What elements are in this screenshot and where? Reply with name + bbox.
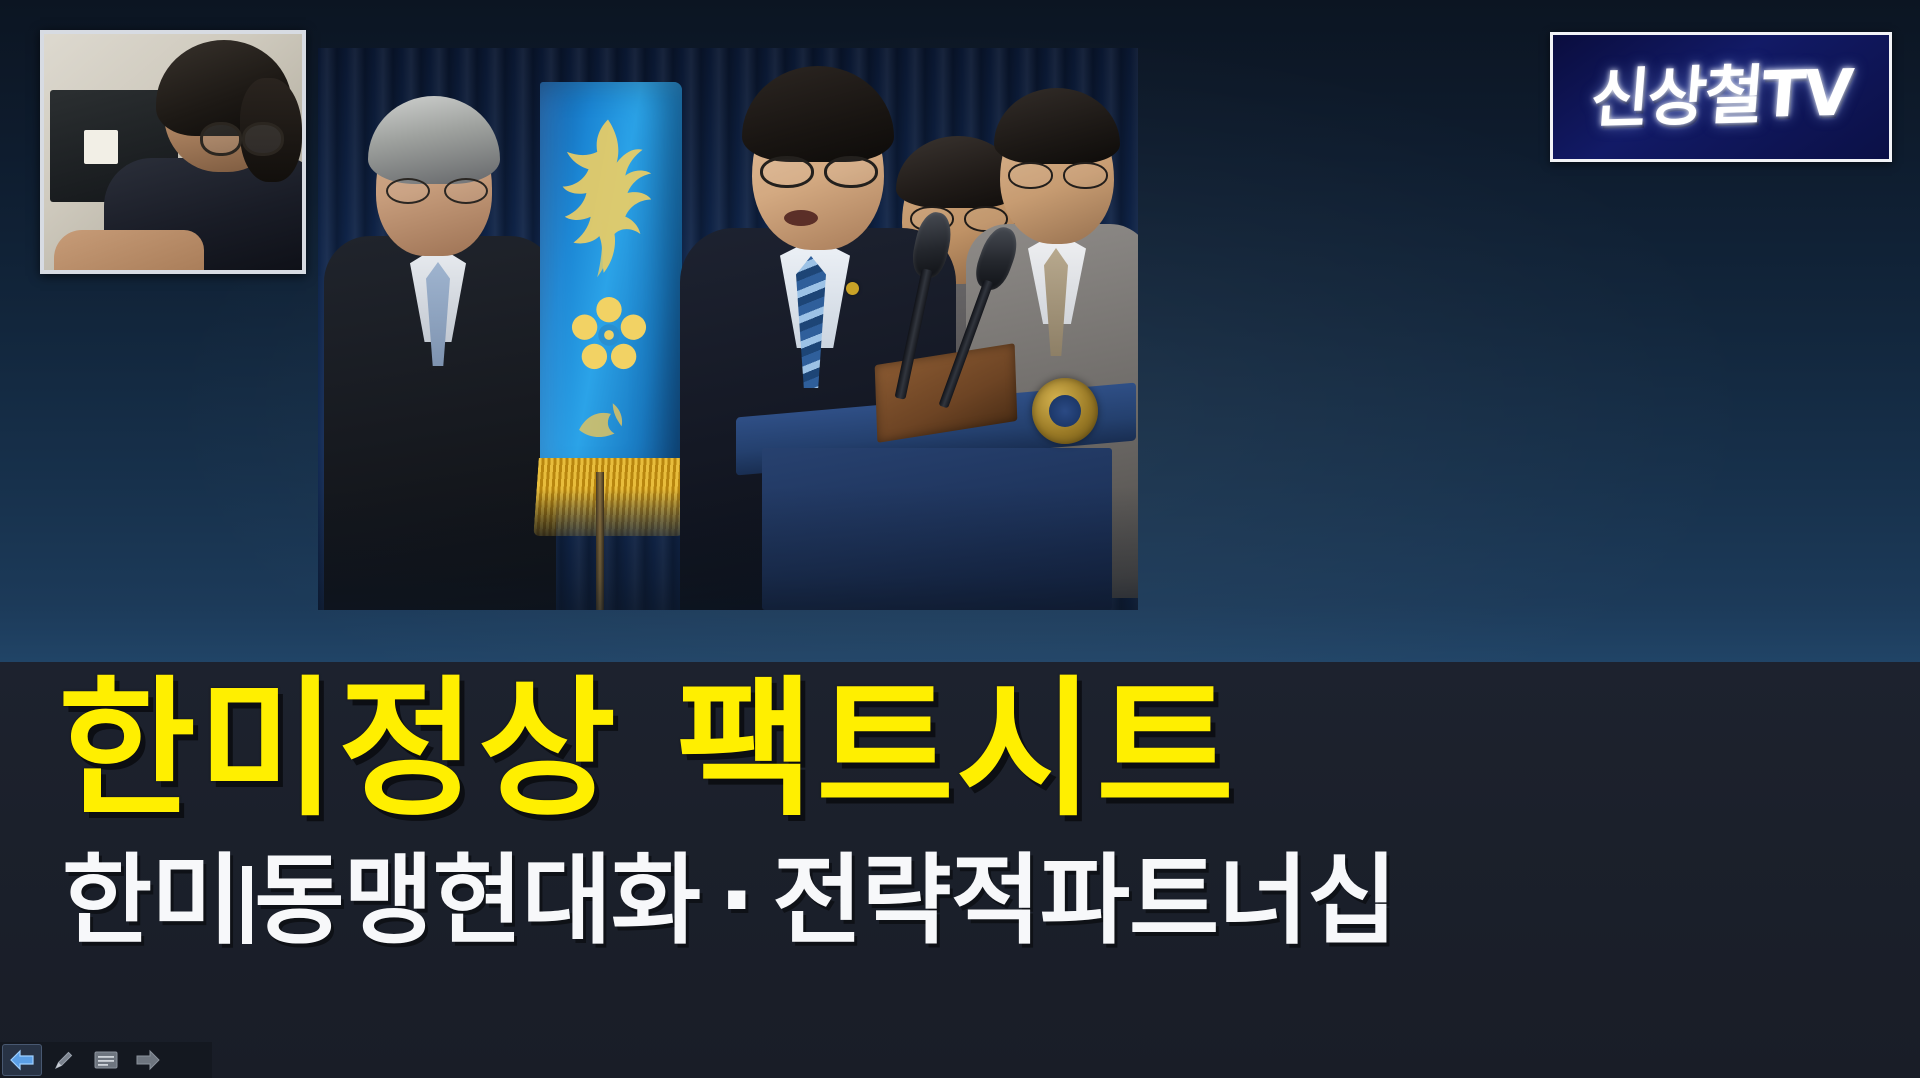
glasses-icon [760, 156, 878, 182]
back-arrow-button[interactable] [2, 1044, 42, 1076]
subheadline-part-b: 동맹현대화 [254, 844, 700, 958]
channel-logo-text: 신상철TV [1588, 62, 1854, 133]
bottom-toolbar[interactable] [0, 1042, 212, 1078]
press-conference-photo [318, 48, 1138, 610]
subheadline-part-c: 전략적파트너십 [772, 844, 1396, 958]
official-left [324, 104, 556, 610]
flag-fringe [533, 458, 688, 536]
webcam-host-arm [54, 230, 204, 274]
lapel-pin-icon [846, 282, 859, 295]
subheadline-part-a: 한미 [62, 844, 240, 958]
flag-pole [596, 472, 604, 610]
list-icon [94, 1051, 118, 1069]
flag-ornament-icon [572, 394, 634, 448]
list-button[interactable] [86, 1044, 126, 1076]
pencil-icon [53, 1049, 75, 1071]
subheadline-separator: · [718, 844, 754, 958]
title-band: 한미정상팩트시트 한미동맹현대화·전략적파트너십 [0, 662, 1920, 1078]
headline: 한미정상팩트시트 [58, 674, 1758, 827]
channel-logo[interactable]: 신상철TV [1550, 32, 1892, 162]
video-frame: Man with glasses in dark shirt looking d… [0, 0, 1920, 1078]
glasses-icon [200, 122, 284, 152]
pencil-button[interactable] [44, 1044, 84, 1076]
rose-of-sharon-emblem-icon [570, 296, 648, 374]
forward-arrow-button[interactable] [128, 1044, 168, 1076]
podium-seal-icon [1032, 378, 1098, 444]
webcam-paper [84, 130, 118, 164]
phoenix-emblem-icon [554, 114, 662, 300]
subheadline-divider [242, 866, 252, 944]
glasses-icon [1008, 162, 1108, 185]
subheadline: 한미동맹현대화·전략적파트너십 [62, 850, 1822, 953]
back-arrow-icon [9, 1049, 35, 1071]
forward-arrow-icon [135, 1049, 161, 1071]
headline-part-2: 팩트시트 [676, 663, 1236, 837]
glasses-icon [386, 178, 488, 200]
host-webcam-inset[interactable]: Man with glasses in dark shirt looking d… [40, 30, 306, 274]
korean-presidential-flag [540, 82, 682, 482]
headline-part-1: 한미정상 [58, 663, 618, 837]
